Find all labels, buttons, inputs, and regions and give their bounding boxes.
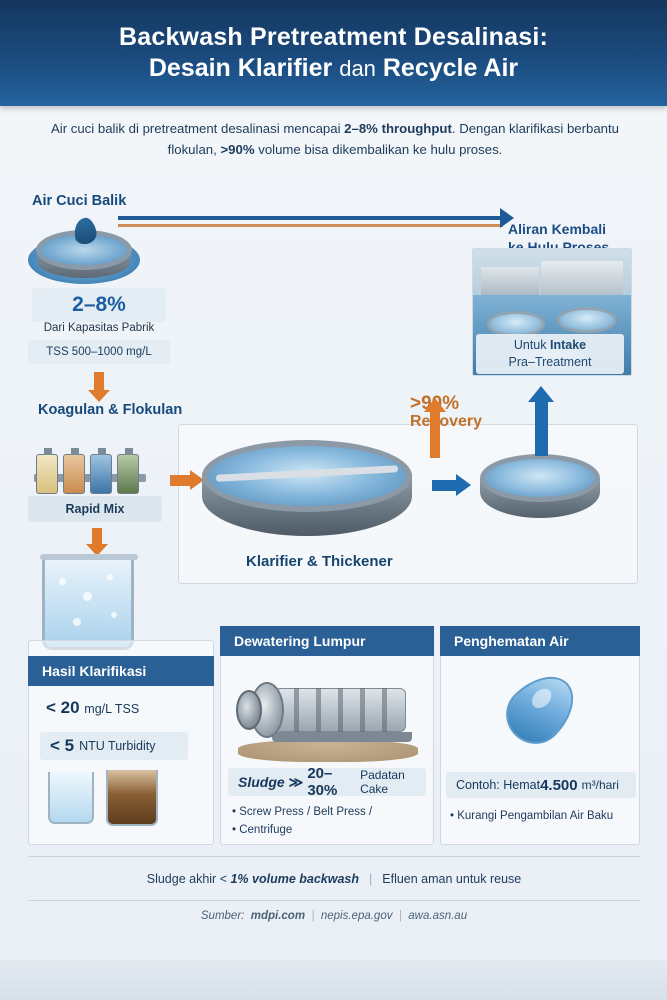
metric-savings-box: Contoh: Hemat 4.500 m³/hari: [446, 772, 636, 798]
source-line: Sumber: mdpi.com | nepis.epa.gov | awa.a…: [28, 910, 640, 922]
plant-building-1: [481, 267, 539, 297]
card-sludge-dewatering-title: Dewatering Lumpur: [220, 626, 434, 656]
beaker-clear-sample: [48, 772, 94, 824]
metric-tss-unit: mg/L TSS: [84, 702, 139, 716]
return-flow-arrow-line-orange: [118, 224, 503, 227]
metric-sludge-value: 20–30%: [307, 765, 355, 799]
metric-savings-value: 4.500: [540, 777, 578, 794]
chemical-bottle-4: [117, 454, 139, 494]
return-flow-arrow-line: [118, 216, 503, 220]
card-clarification-result-title: Hasil Klarifikasi: [28, 656, 214, 686]
chemical-bottle-2: [63, 454, 85, 494]
bubble: [111, 612, 117, 618]
footer-note-separator: |: [369, 872, 372, 886]
orange-arrow-down-1: [88, 372, 110, 402]
label-return-flow-line1: Aliran Kembali: [508, 220, 648, 238]
header-banner: Backwash Pretreatment Desalinasi: Desain…: [0, 0, 667, 106]
badge-intake-pretreatment: Untuk Intake Pra–Treatment: [476, 334, 624, 374]
dewatering-machine-illustration: [232, 672, 422, 764]
badge-intake-prefix: Untuk: [514, 338, 550, 352]
badge-rapid-mix: Rapid Mix: [28, 496, 162, 522]
card-water-savings-title: Penghematan Air: [440, 626, 640, 656]
footer-note-bold: 1% volume backwash: [230, 872, 359, 886]
bullet-savings-1: • Kurangi Pengambilan Air Baku: [450, 808, 640, 825]
arrow-stem: [430, 412, 440, 458]
bottom-band: [0, 960, 667, 1000]
arrow-head-icon: [456, 474, 471, 496]
bubble: [107, 574, 113, 580]
badge-intake-line2: Pra–Treatment: [509, 354, 592, 371]
chemical-bottle-3: [90, 454, 112, 494]
source-label: Sumber:: [201, 910, 244, 922]
divider-bottom: [28, 900, 640, 901]
header-title-line2: Desain Klarifier dan Recycle Air: [0, 53, 667, 84]
divider-top: [28, 856, 640, 857]
badge-tss-range: TSS 500–1000 mg/L: [28, 340, 170, 364]
label-coagulant-flocculant: Koagulan & Flokulan: [38, 402, 182, 418]
machine-ground: [238, 740, 418, 762]
subtitle-bold2: >90%: [220, 142, 254, 157]
arrow-head-icon: [424, 398, 446, 412]
orange-arrow-up-recovery: [424, 398, 446, 458]
bubble: [83, 592, 92, 601]
machine-rib: [382, 688, 387, 732]
blue-arrow-up-to-intake: [528, 386, 554, 456]
machine-rib: [338, 688, 343, 732]
metric-sludge-unit: Padatan Cake: [360, 768, 426, 796]
header-title-part-c: Recycle Air: [383, 54, 518, 82]
bullet-dewatering-1: • Screw Press / Belt Press /: [232, 804, 432, 821]
arrow-head-icon: [528, 386, 554, 402]
thickener-surface: [480, 454, 600, 502]
chemical-bottles-illustration: [34, 434, 154, 494]
source-sep-1: |: [308, 910, 317, 922]
machine-drum-secondary: [236, 690, 262, 730]
bubble: [59, 578, 66, 585]
bubble: [73, 618, 81, 626]
source-link-3[interactable]: awa.asn.au: [408, 910, 467, 922]
badge-intake-bold: Intake: [550, 338, 586, 352]
source-link-2[interactable]: nepis.epa.gov: [321, 910, 393, 922]
header-title-part-b: dan: [339, 56, 376, 81]
footer-note: Sludge akhir < 1% volume backwash | Eflu…: [28, 862, 640, 896]
beaker-lip: [40, 554, 138, 560]
blue-arrow-right: [432, 474, 472, 496]
subtitle-part1: Air cuci balik di pretreatment desalinas…: [51, 121, 344, 136]
arrow-stem: [170, 475, 192, 486]
thickener-tank-illustration: [480, 454, 600, 528]
caption-plant-capacity: Dari Kapasitas Pabrik: [32, 322, 166, 334]
arrow-stem: [535, 400, 548, 456]
metric-sludge-arrow: ≫: [289, 774, 304, 791]
source-link-1[interactable]: mdpi.com: [251, 910, 305, 922]
metric-sludge-prefix: Sludge: [238, 774, 285, 790]
metric-savings-prefix: Contoh: Hemat: [456, 778, 540, 792]
chemical-bottle-1: [36, 454, 58, 494]
badge-intake-line1: Untuk Intake: [514, 337, 586, 354]
arrow-stem: [94, 372, 104, 392]
machine-rib: [294, 688, 299, 732]
subtitle-bold1: 2–8% throughput: [344, 121, 452, 136]
footer-note-part-c: Efluen aman untuk reuse: [382, 872, 521, 886]
metric-turbidity-unit: NTU Turbidity: [79, 739, 155, 753]
metric-sludge-box: Sludge ≫ 20–30% Padatan Cake: [228, 768, 426, 796]
header-title-part-a: Desain Klarifier: [149, 54, 332, 82]
machine-rib: [316, 688, 321, 732]
subtitle-text: Air cuci balik di pretreatment desalinas…: [45, 118, 625, 161]
arrow-stem: [432, 480, 458, 491]
header-title-line1: Backwash Pretreatment Desalinasi:: [0, 22, 667, 53]
infographic-page: Backwash Pretreatment Desalinasi: Desain…: [0, 0, 667, 1000]
orange-arrow-right: [170, 470, 204, 490]
footer-note-part-a: Sludge akhir <: [147, 872, 227, 886]
metric-tss: < 20 mg/L TSS: [46, 698, 139, 718]
bullet-dewatering-2: • Centrifuge: [232, 822, 432, 839]
arrow-head-icon: [88, 390, 110, 402]
plant-basin-2: [557, 307, 617, 333]
plant-building-2: [541, 261, 623, 297]
machine-rib: [360, 688, 365, 732]
label-clarifier-thickener: Klarifier & Thickener: [246, 553, 393, 570]
clarified-water-beaker: [42, 560, 134, 650]
metric-turbidity-box: < 5 NTU Turbidity: [40, 732, 188, 760]
badge-percent-throughput: 2–8%: [32, 288, 166, 322]
metric-savings-unit: m³/hari: [582, 778, 619, 792]
subtitle-part3: volume bisa dikembalikan ke hulu proses.: [255, 142, 503, 157]
source-sep-2: |: [396, 910, 405, 922]
metric-tss-value: < 20: [46, 698, 80, 717]
metric-turbidity-value: < 5: [50, 736, 74, 756]
beaker-turbid-sample: [106, 770, 158, 826]
backwash-tank-illustration: [28, 226, 140, 290]
label-backwash-water: Air Cuci Balik: [32, 193, 126, 209]
machine-frame: [272, 732, 412, 742]
clarifier-tank-illustration: [202, 440, 412, 550]
